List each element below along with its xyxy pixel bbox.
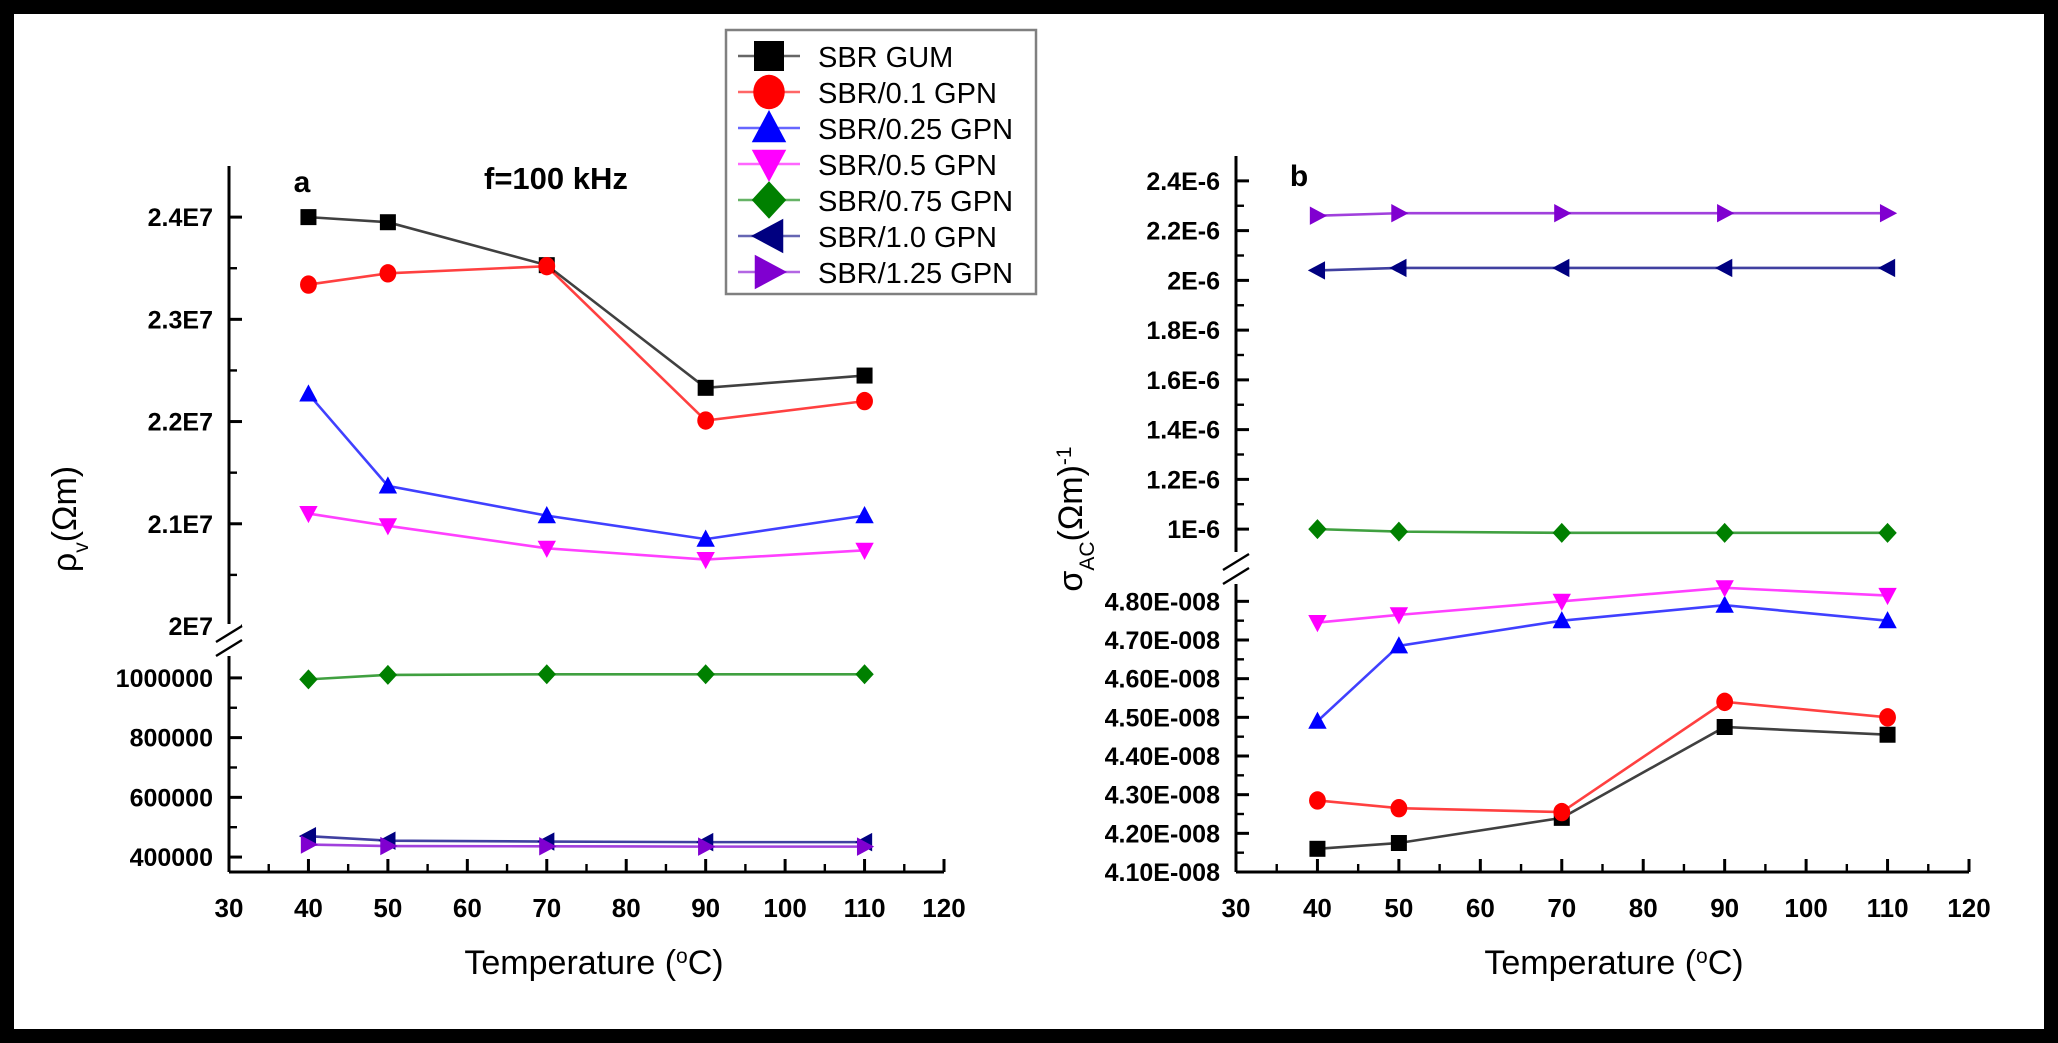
x-tick-label: 90: [1710, 893, 1739, 923]
y-ticks-upper: 1E-61.2E-61.4E-61.6E-61.8E-62E-62.2E-62.…: [1146, 168, 1249, 544]
x-ticks: 30405060708090100110120: [215, 859, 966, 923]
x-tick-label: 40: [1303, 893, 1332, 923]
legend-item-sbr-gum: SBR GUM: [738, 41, 953, 74]
series-sbr-1-25-gpn: [1310, 204, 1897, 225]
data-point: [1879, 708, 1896, 726]
data-point: [1717, 719, 1733, 735]
data-point: [1390, 522, 1408, 542]
x-ticks: 30405060708090100110120: [1222, 859, 1991, 923]
legend-label: SBR/0.75 GPN: [818, 186, 1013, 218]
y-axis-title-b-text: σAC(Ωm)-1: [1052, 446, 1099, 591]
y-tick-label: 600000: [130, 784, 213, 812]
data-point: [538, 664, 556, 684]
x-tick-label: 100: [763, 893, 806, 923]
x-tick-label: 70: [1547, 893, 1576, 923]
y-tick-label: 2.2E7: [148, 409, 213, 437]
legend: SBR GUMSBR/0.1 GPNSBR/0.25 GPNSBR/0.5 GP…: [726, 30, 1036, 294]
series-sbr-0-5-gpn: [299, 506, 874, 569]
data-point: [380, 214, 396, 230]
data-point: [1878, 259, 1895, 277]
data-point: [379, 665, 397, 685]
x-tick-label: 80: [612, 893, 641, 923]
data-point: [1308, 615, 1326, 632]
x-tick-label: 110: [844, 893, 886, 923]
data-point: [1552, 259, 1569, 277]
y-tick-label: 4.60E-008: [1105, 666, 1220, 694]
series-layer: [299, 209, 874, 856]
legend-label: SBR/1.0 GPN: [818, 222, 997, 254]
y-tick-label: 4.20E-008: [1105, 820, 1220, 848]
data-point: [1389, 259, 1406, 277]
data-point: [1308, 519, 1326, 539]
panel-a-label: a: [294, 166, 311, 199]
data-point: [1878, 523, 1896, 543]
axis-lines: [1236, 156, 1969, 872]
data-point: [1309, 841, 1325, 857]
data-point: [300, 275, 317, 293]
chart-svg: 304050607080901001101202E72.1E72.2E72.3E…: [14, 14, 2044, 1029]
legend-label: SBR/0.25 GPN: [818, 114, 1013, 146]
y-tick-label: 4.50E-008: [1105, 704, 1220, 732]
data-point: [379, 264, 396, 282]
y-tick-label: 1.6E-6: [1146, 367, 1220, 395]
x-axis-title-b: Temperature (oC): [1484, 944, 1743, 982]
x-tick-label: 80: [1629, 893, 1658, 923]
y-tick-label: 4.10E-008: [1105, 859, 1220, 887]
panel-b-plot: 304050607080901001101201E-61.2E-61.4E-61…: [1105, 156, 1991, 923]
data-point: [696, 552, 714, 569]
axis-break: [1223, 552, 1249, 584]
series-sbr-0-75-gpn: [1308, 519, 1897, 543]
series-sbr-0-1-gpn: [1309, 693, 1896, 822]
x-axis-title: Temperature (oC): [464, 944, 723, 982]
legend-label: SBR/0.5 GPN: [818, 150, 997, 182]
series-line: [1317, 727, 1887, 849]
y-tick-label: 2.4E-6: [1146, 168, 1220, 196]
legend-marker-circle-icon: [753, 75, 785, 110]
x-tick-label: 40: [294, 893, 323, 923]
data-point: [1308, 261, 1325, 279]
legend-item-sbr-1-0-gpn: SBR/1.0 GPN: [738, 219, 997, 254]
y-tick-label: 1.2E-6: [1146, 466, 1220, 494]
data-point: [1717, 204, 1734, 222]
data-point: [698, 380, 714, 396]
y-tick-label: 1.4E-6: [1146, 417, 1220, 445]
x-tick-label: 120: [922, 893, 965, 923]
y-tick-label: 2E-6: [1167, 267, 1220, 295]
data-point: [1310, 207, 1327, 225]
y-tick-label: 4.30E-008: [1105, 782, 1220, 810]
legend-label: SBR/1.25 GPN: [818, 258, 1013, 290]
data-point: [1391, 204, 1408, 222]
x-tick-label: 60: [1466, 893, 1495, 923]
y-axis-title-b: σAC(Ωm)-1: [1052, 446, 1099, 591]
legend-marker-square-icon: [754, 41, 784, 71]
axis-break: [216, 624, 242, 656]
y-ticks-lower: 4000006000008000001000000: [116, 665, 242, 872]
x-axis-title: Temperature (oC): [1484, 944, 1743, 982]
y-tick-label: 400000: [130, 844, 213, 872]
x-tick-label: 100: [1784, 893, 1827, 923]
data-point: [538, 257, 555, 275]
data-point: [855, 664, 873, 684]
data-point: [300, 209, 316, 225]
y-axis-title-a: ρv(Ωm): [46, 466, 93, 572]
data-point: [856, 392, 873, 410]
data-point: [1878, 588, 1896, 605]
data-point: [1309, 791, 1326, 809]
legend-item-sbr-0-1-gpn: SBR/0.1 GPN: [738, 75, 997, 110]
series-line: [1317, 605, 1887, 721]
y-tick-label: 4.70E-008: [1105, 627, 1220, 655]
series-sbr-1-0-gpn: [1308, 259, 1895, 280]
data-point: [1715, 523, 1733, 543]
panel-b-label: b: [1290, 160, 1308, 193]
data-point: [1715, 259, 1732, 277]
figure-container: 304050607080901001101202E72.1E72.2E72.3E…: [0, 0, 2058, 1043]
data-point: [299, 384, 317, 401]
series-sbr-0-5-gpn: [1308, 580, 1897, 632]
y-tick-label: 2.2E-6: [1146, 218, 1220, 246]
data-point: [1716, 693, 1733, 711]
x-tick-label: 120: [1947, 893, 1990, 923]
series-line: [308, 394, 864, 539]
data-point: [1390, 799, 1407, 817]
y-tick-label: 4.80E-008: [1105, 588, 1220, 616]
series-sbr-gum: [1309, 719, 1895, 857]
y-tick-label: 1000000: [116, 665, 213, 693]
y-axis-title-a-text: ρv(Ωm): [46, 466, 93, 572]
y-tick-label: 1E-6: [1167, 516, 1220, 544]
data-point: [1391, 835, 1407, 851]
data-point: [857, 368, 873, 384]
y-tick-label: 800000: [130, 725, 213, 753]
data-point: [697, 411, 714, 429]
y-tick-label: 2.3E7: [148, 306, 213, 334]
annotation: f=100 kHz: [484, 161, 628, 196]
data-point: [1554, 204, 1571, 222]
y-ticks-lower: 4.10E-0084.20E-0084.30E-0084.40E-0084.50…: [1105, 588, 1249, 887]
x-tick-label: 30: [1222, 893, 1251, 923]
y-tick-label: 2.1E7: [148, 511, 213, 539]
x-tick-label: 50: [1384, 893, 1413, 923]
series-sbr-0-75-gpn: [299, 664, 874, 689]
x-axis-title-a: Temperature (oC): [464, 944, 723, 982]
x-tick-label: 110: [1867, 893, 1909, 923]
legend-label: SBR/0.1 GPN: [818, 78, 997, 110]
x-tick-label: 90: [691, 893, 720, 923]
x-tick-label: 50: [373, 893, 402, 923]
y-tick-label: 1.8E-6: [1146, 317, 1220, 345]
x-tick-label: 60: [453, 893, 482, 923]
data-point: [696, 664, 714, 684]
data-point: [299, 669, 317, 689]
data-point: [855, 506, 873, 523]
data-point: [1553, 523, 1571, 543]
data-point: [1880, 204, 1897, 222]
x-tick-label: 30: [215, 893, 244, 923]
y-tick-label: 4.40E-008: [1105, 743, 1220, 771]
x-tick-label: 70: [532, 893, 561, 923]
legend-label: SBR GUM: [818, 42, 953, 74]
frequency-annotation: f=100 kHz: [484, 161, 628, 196]
series-layer: [1308, 204, 1897, 857]
figure-canvas: 304050607080901001101202E72.1E72.2E72.3E…: [14, 14, 2044, 1029]
y-tick-label: 2E7: [169, 613, 213, 641]
y-tick-label: 2.4E7: [148, 204, 213, 232]
data-point: [1553, 803, 1570, 821]
data-point: [1880, 727, 1896, 743]
data-point: [1715, 596, 1733, 613]
